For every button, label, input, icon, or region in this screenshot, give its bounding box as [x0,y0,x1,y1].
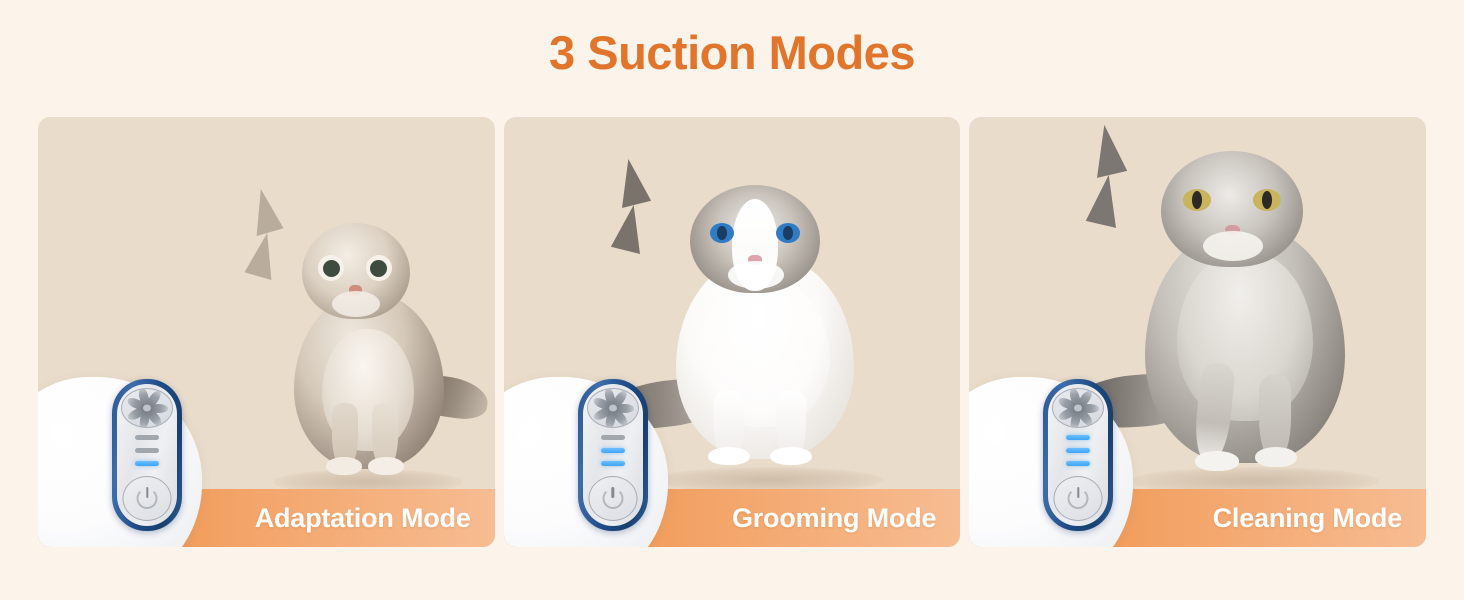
page-title: 3 Suction Modes [0,27,1464,79]
mode-label-adaptation: Adaptation Mode [255,503,471,534]
cat-eye-right [366,255,392,281]
cat-pupil-left [1192,191,1202,209]
mode-panel-row: Adaptation Mode [38,117,1426,547]
device-control-panel-grooming[interactable] [578,379,648,531]
mode-panel-grooming[interactable]: Grooming Mode [504,117,961,547]
suction-level-indicator-grooming [601,435,625,466]
led-indicator-1 [1066,435,1090,440]
mode-panel-adaptation[interactable]: Adaptation Mode [38,117,495,547]
power-button-icon[interactable] [123,476,172,521]
fan-turbine-icon [121,388,173,428]
cat-eye-right [776,223,800,243]
cat-illustration [616,159,916,489]
cat-pupil-left [717,226,727,240]
device-control-panel-adaptation[interactable] [112,379,182,531]
led-indicator-3 [135,461,159,466]
power-glyph [1068,488,1089,509]
cat-paw-left [1195,451,1239,471]
cat-muzzle [728,261,784,289]
fan-turbine-icon [587,388,639,428]
led-indicator-2 [135,448,159,453]
led-indicator-2 [601,448,625,453]
cat-ear-right [1086,172,1127,228]
cat-paw-right [770,447,812,465]
cat-pupil-left [323,260,340,277]
power-button-icon[interactable] [588,476,637,521]
led-indicator-1 [601,435,625,440]
cat-ear-right [244,230,283,280]
cat-illustration [1091,125,1401,495]
mode-label-grooming: Grooming Mode [732,503,936,534]
led-indicator-2 [1066,448,1090,453]
power-glyph [602,488,623,509]
cat-ear-left [244,186,283,236]
cat-paw-left [708,447,750,465]
cat-illustration [250,189,490,489]
led-indicator-3 [601,461,625,466]
suction-level-indicator-adaptation [135,435,159,466]
cat-pupil-right [370,260,387,277]
led-indicator-3 [1066,461,1090,466]
cat-muzzle [1203,231,1263,261]
cat-muzzle [332,291,380,317]
fan-turbine-icon [1052,388,1104,428]
mode-panel-cleaning[interactable]: Cleaning Mode [969,117,1426,547]
cat-pupil-right [783,226,793,240]
led-indicator-1 [135,435,159,440]
mode-label-cleaning: Cleaning Mode [1213,503,1402,534]
power-button-icon[interactable] [1054,476,1103,521]
device-control-panel-cleaning[interactable] [1043,379,1113,531]
cat-eye-left [710,223,734,243]
cat-ear-left [1086,122,1127,178]
cat-eye-left [318,255,344,281]
cat-pupil-right [1262,191,1272,209]
suction-level-indicator-cleaning [1066,435,1090,466]
cat-paw-right [1255,447,1297,467]
cat-paw-right [368,457,404,475]
power-glyph [137,488,158,509]
cat-ear-left [611,156,651,208]
cat-paw-left [326,457,362,475]
cat-ear-right [611,202,651,254]
